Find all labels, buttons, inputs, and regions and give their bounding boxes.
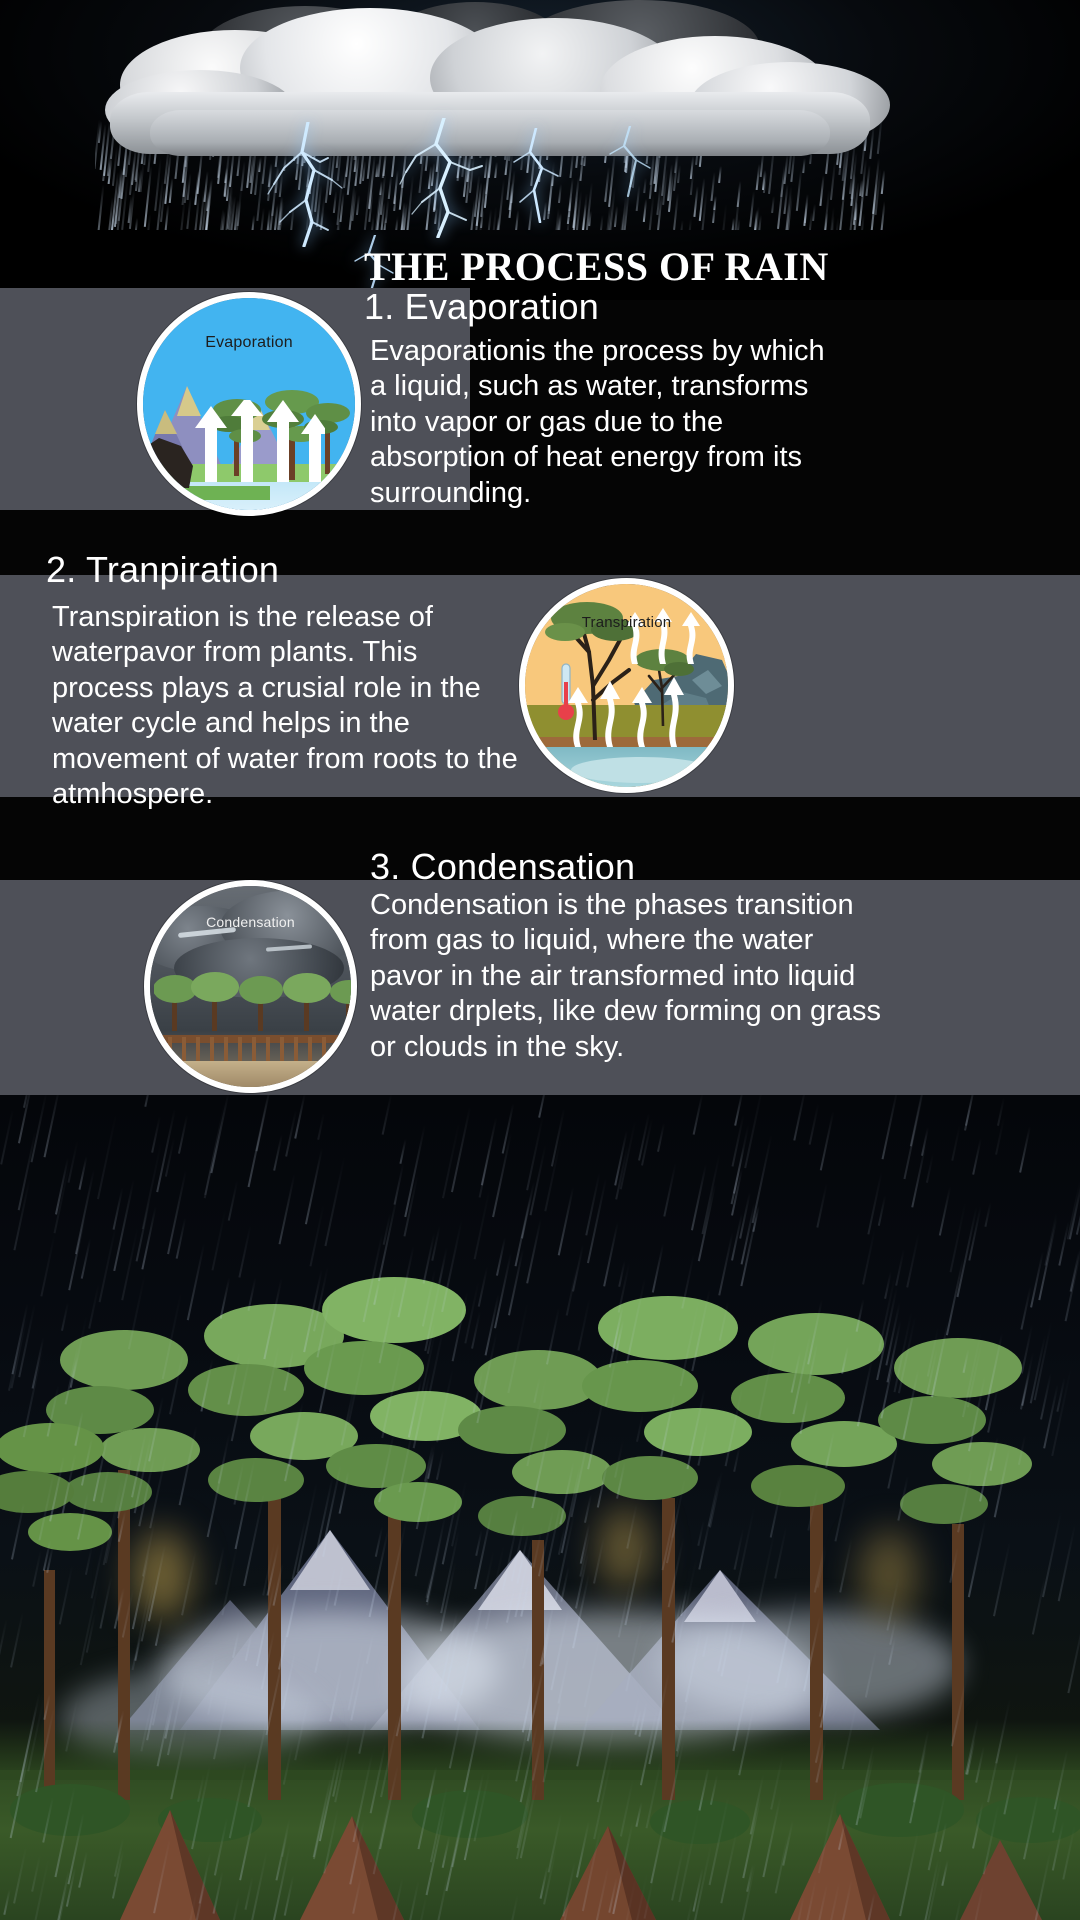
lightning-bolt-icon bbox=[500, 128, 570, 223]
condensation-circle-label: Condensation bbox=[150, 914, 351, 930]
evaporation-arrows-icon bbox=[189, 400, 325, 482]
lightning-bolt-icon bbox=[392, 118, 492, 238]
pond-highlight bbox=[571, 757, 711, 783]
evaporation-circle-label: Evaporation bbox=[143, 334, 355, 352]
grass-strip bbox=[143, 486, 270, 500]
lightning-bolt-icon bbox=[262, 122, 352, 247]
tree-row-shape bbox=[154, 965, 357, 1031]
transpiration-circle-label: Transpiration bbox=[525, 614, 728, 631]
body-evaporation: Evaporationis the process by which a liq… bbox=[370, 334, 840, 511]
lightning-bolt-icon bbox=[596, 126, 662, 198]
transpiration-arrows-icon bbox=[624, 602, 714, 664]
evaporation-illustration: Evaporation bbox=[137, 292, 361, 516]
heading-condensation: 3. Condensation bbox=[370, 846, 635, 888]
page-title: THE PROCESS OF RAIN bbox=[364, 243, 1064, 290]
path-ground bbox=[150, 1061, 351, 1087]
fence-shape bbox=[150, 1037, 357, 1063]
body-condensation: Condensation is the phases transition fr… bbox=[370, 888, 890, 1065]
rain-overlay bbox=[0, 1095, 1080, 1920]
body-transpiration: Transpiration is the release of waterpav… bbox=[52, 600, 522, 812]
condensation-illustration: Condensation bbox=[144, 880, 357, 1093]
rainy-forest-illustration bbox=[0, 1095, 1080, 1920]
infographic-poster: THE PROCESS OF RAIN bbox=[0, 0, 1080, 1920]
transpiration-illustration: Transpiration bbox=[519, 578, 734, 793]
transpiration-arrows-icon bbox=[565, 659, 715, 747]
heading-evaporation: 1. Evaporation bbox=[364, 286, 599, 328]
heading-transpiration: 2. Tranpiration bbox=[46, 549, 279, 591]
